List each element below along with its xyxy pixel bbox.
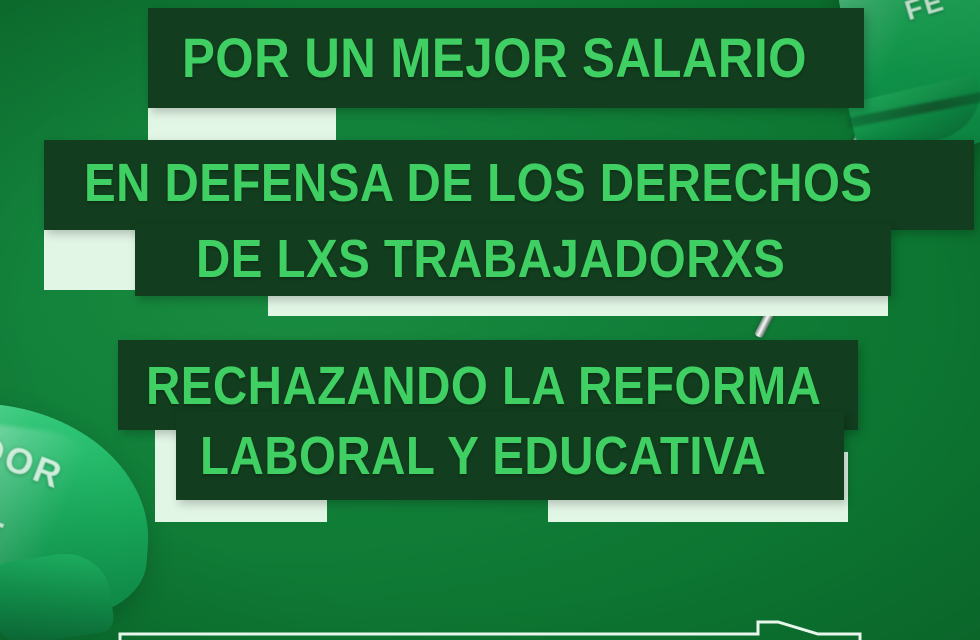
bracket-horizontal-right-3: [548, 498, 848, 522]
headline-line-1-1: POR UN MEJOR SALARIO: [182, 25, 807, 90]
headline-line-3-2: LABORAL Y EDUCATIVA: [200, 425, 766, 487]
headline-line-2-2: DE LXS TRABAJADORXS: [196, 228, 785, 290]
bottom-callout-frame: [118, 620, 862, 640]
bracket-horizontal-3: [155, 498, 327, 522]
bottom-frame-outline-icon: [118, 620, 862, 640]
bracket-left-2: [44, 224, 142, 290]
headline-line-3-1: RECHAZANDO LA REFORMA: [146, 355, 821, 417]
poster-canvas: FE ADOR FE POR UN MEJOR SALARIO EN DEFEN…: [0, 0, 980, 640]
bracket-horizontal-1: [148, 108, 336, 140]
headline-line-2-1: EN DEFENSA DE LOS DERECHOS: [84, 152, 873, 214]
